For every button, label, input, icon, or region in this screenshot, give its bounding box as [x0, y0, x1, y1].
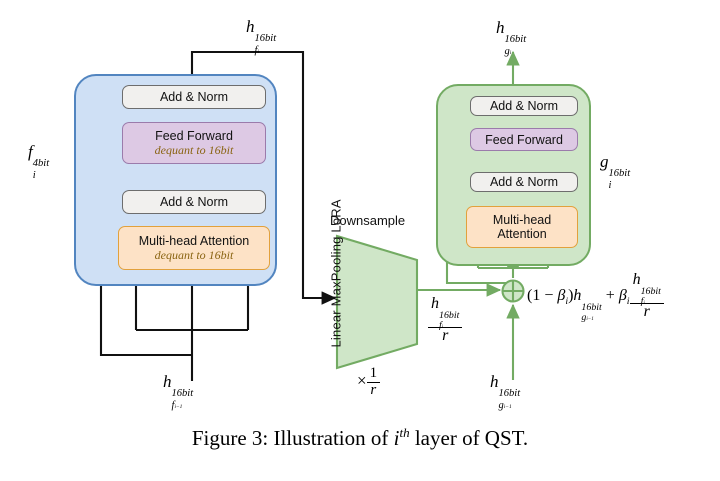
downsample-body-text: Linear MaxPooling LoRA	[329, 238, 344, 348]
frozen-input-h: h	[163, 372, 172, 391]
frozen-feed-forward-label: Feed Forward	[155, 129, 233, 143]
side-output-sub-i: i	[510, 50, 512, 56]
side-branch-label-base: g	[600, 152, 609, 171]
frozen-output-label: h16bitfi	[246, 17, 276, 51]
side-input-sup: 16bit	[499, 389, 521, 400]
frozen-input-sub-i: i−1	[174, 404, 182, 410]
caption-th: th	[399, 425, 409, 440]
frozen-input-sub: fi−1	[172, 400, 194, 411]
downsample-scale-times: ×	[357, 371, 367, 390]
side-add-norm-bottom: Add & Norm	[470, 172, 578, 192]
frozen-attention-label: Multi-head Attention	[139, 234, 250, 248]
figure-caption: Figure 3: Illustration of ith layer of Q…	[0, 425, 720, 451]
fusion-operator-circle	[503, 281, 524, 302]
side-output-h: h	[496, 18, 505, 37]
side-feed-forward: Feed Forward	[470, 128, 578, 151]
downsample-scale-denominator: r	[367, 382, 381, 399]
fusion-plus: +	[602, 287, 619, 304]
fusion-frac-h-sup: 16bit	[641, 287, 661, 297]
frozen-output-sub-i: i	[257, 49, 259, 55]
fusion-frac-h-sub-i: i	[643, 300, 644, 306]
fusion-formula: (1 − βi)h16bitgi−1 + βi h16bitfi r	[527, 272, 664, 320]
fusion-formula-open: (1 −	[527, 287, 557, 304]
side-branch-label: g16biti	[600, 152, 630, 186]
downsample-output-label: h16bitfi r	[428, 296, 462, 344]
frozen-input-label: h16bitfi−1	[163, 372, 193, 406]
fusion-frac-h: h	[633, 271, 641, 288]
fusion-h-g-sub-i: i−1	[586, 316, 593, 322]
fusion-frac-numerator: h16bitfi	[630, 272, 664, 303]
frozen-branch-label: f4biti	[28, 142, 49, 176]
side-add-norm-top: Add & Norm	[470, 96, 578, 116]
side-input-h: h	[490, 372, 499, 391]
fusion-h-g-sub: gi−1	[581, 313, 601, 323]
frozen-multi-head-attention: Multi-head Attention dequant to 16bit	[118, 226, 270, 270]
frozen-input-sup: 16bit	[172, 389, 194, 400]
frozen-attention-dequant-label: dequant to 16bit	[155, 249, 234, 262]
downsample-trapezoid	[334, 232, 420, 372]
frozen-output-sub: fi	[255, 45, 277, 56]
caption-prefix: Figure 3: Illustration of	[192, 426, 394, 450]
fusion-h-g: h	[573, 287, 581, 304]
frozen-add-norm-bottom-label: Add & Norm	[160, 195, 228, 209]
frozen-branch-label-sup: 4bit	[33, 159, 49, 170]
frozen-add-norm-bottom: Add & Norm	[122, 190, 266, 214]
side-branch-label-sub: i	[609, 180, 631, 191]
side-input-label: h16bitgi−1	[490, 372, 520, 406]
downsample-output-numerator: h16bitfi	[428, 296, 462, 327]
caption-suffix: layer of QST.	[410, 426, 529, 450]
downsample-output-sub-i: i	[442, 324, 443, 330]
frozen-add-norm-top: Add & Norm	[122, 85, 266, 109]
side-output-label: h16bitgi	[496, 18, 526, 52]
side-multi-head-attention: Multi-head Attention	[466, 206, 578, 248]
side-input-sub-i: i−1	[504, 404, 512, 410]
side-output-sub: gi	[505, 46, 527, 57]
figure-3-qst-layer-diagram: Add & Norm Feed Forward dequant to 16bit…	[0, 0, 720, 481]
frozen-output-sup: 16bit	[255, 34, 277, 45]
downsample-output-h: h	[431, 295, 439, 312]
fusion-frac-h-sub: fi	[641, 297, 661, 307]
side-attention-label-line2: Attention	[497, 227, 546, 241]
frozen-output-h: h	[246, 17, 255, 36]
side-branch-label-sup: 16bit	[609, 169, 631, 180]
frozen-feed-forward-dequant-label: dequant to 16bit	[155, 144, 234, 157]
frozen-feed-forward: Feed Forward dequant to 16bit	[122, 122, 266, 164]
downsample-output-sup: 16bit	[439, 311, 459, 321]
side-attention-label-line1: Multi-head	[493, 213, 551, 227]
side-feed-forward-label: Feed Forward	[485, 133, 563, 147]
downsample-scale-label: × 1 r	[357, 366, 380, 399]
side-add-norm-top-label: Add & Norm	[490, 99, 558, 113]
frozen-branch-label-sub: i	[33, 170, 49, 181]
frozen-add-norm-top-label: Add & Norm	[160, 90, 228, 104]
side-input-sub: gi−1	[499, 400, 521, 411]
downsample-scale-numerator: 1	[367, 366, 381, 382]
side-add-norm-bottom-label: Add & Norm	[490, 175, 558, 189]
downsample-output-sub: fi	[439, 321, 459, 331]
fusion-beta-2: β	[619, 287, 627, 304]
side-output-sup: 16bit	[505, 35, 527, 46]
